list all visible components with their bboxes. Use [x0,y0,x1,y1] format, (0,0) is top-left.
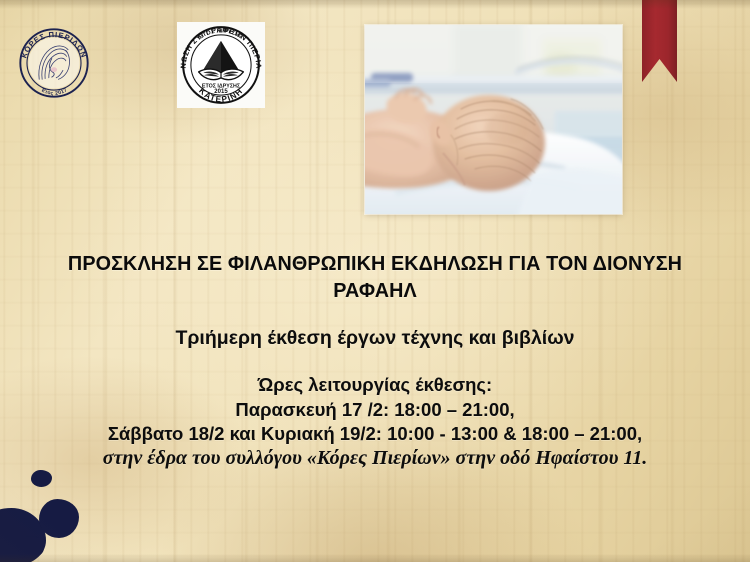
page-title: ΠΡΟΣΚΛΗΣΗ ΣΕ ΦΙΛΑΝΘΡΩΠΙΚΗ ΕΚΔΗΛΩΣΗ ΓΙΑ Τ… [46,250,704,304]
kores-pieridon-logo: ΚΟΡΕΣ ΠΙΕΡΙΔΩΝ Έτος 2017 [17,26,91,100]
opening-hours-weekend: Σάββατο 18/2 και Κυριακή 19/2: 10:00 - 1… [20,422,730,447]
event-invitation-poster: ΚΟΡΕΣ ΠΙΕΡΙΔΩΝ Έτος 2017 [0,0,750,562]
venue-address: στην έδρα του συλλόγου «Κόρες Πιερίων» σ… [20,446,730,471]
svg-text:2015: 2015 [214,89,228,95]
enosi-syggrafeon-pierias-logo: ΕΤΟΣ ΙΔΡΥΣΗΣ ΕΤΟΣ ΙΔΡΥΣΗΣ 2015 ΕΝΩΣΗ ΣΥΓ… [177,22,265,108]
newborn-baby-photo [365,25,622,214]
ink-blot-tiny [17,536,44,558]
opening-hours-friday: Παρασκευή 17 /2: 18:00 – 21:00, [20,398,730,423]
opening-hours-block: Ώρες λειτουργίας έκθεσης: Παρασκευή 17 /… [20,373,730,447]
ink-blot-small [31,470,52,487]
red-ribbon-bookmark [642,0,677,82]
exhibition-subtitle: Τριήμερη έκθεση έργων τέχνης και βιβλίων [34,325,716,351]
opening-hours-label: Ώρες λειτουργίας έκθεσης: [20,373,730,398]
ink-blot-medium [39,499,79,538]
